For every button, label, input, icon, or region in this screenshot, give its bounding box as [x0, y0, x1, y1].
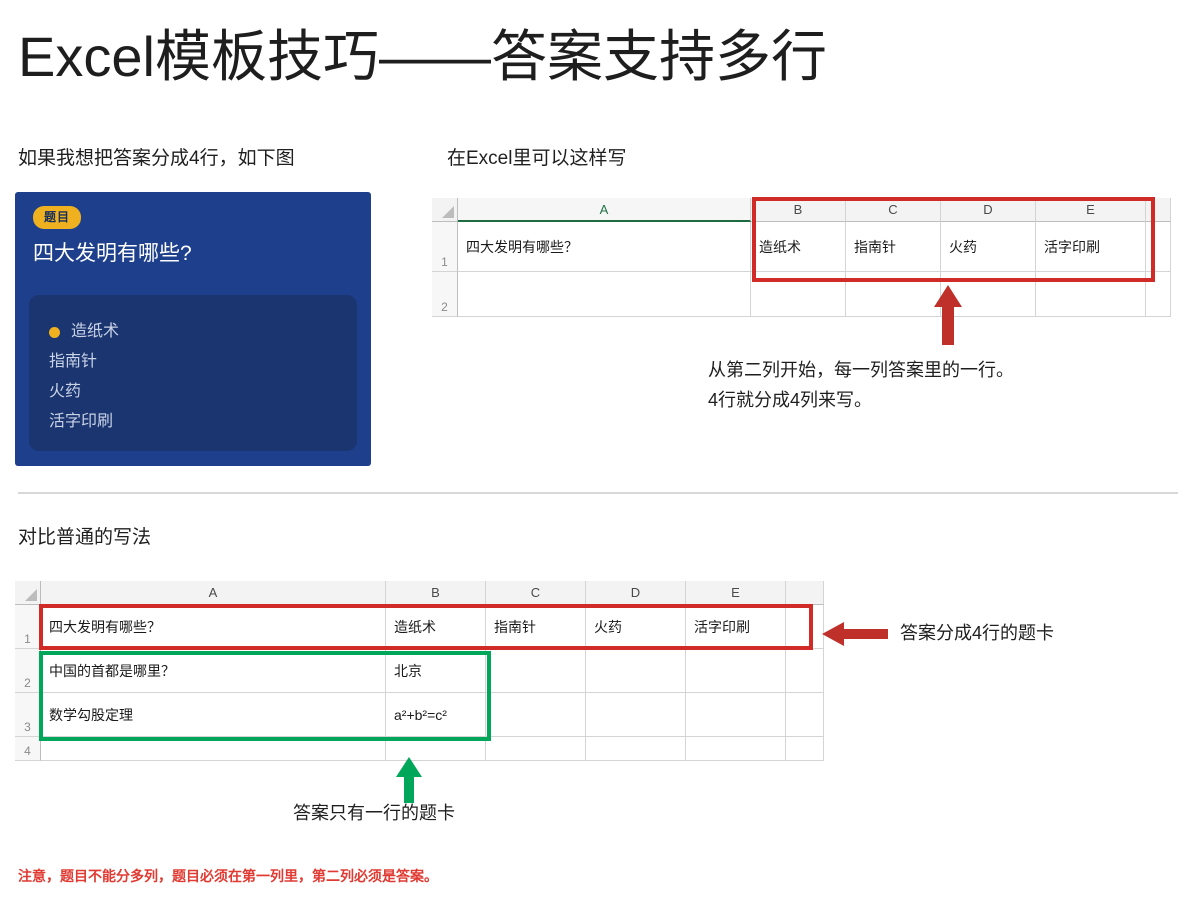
- column-header-c[interactable]: C: [846, 198, 941, 222]
- footer-warning: 注意，题目不能分多列，题目必须在第一列里，第二列必须是答案。: [18, 866, 438, 886]
- bullet-dot-icon: [49, 327, 60, 338]
- cell-c3[interactable]: [486, 693, 586, 737]
- cell-b2[interactable]: 北京: [386, 649, 486, 693]
- cell-d2[interactable]: [586, 649, 686, 693]
- cell-a1[interactable]: 四大发明有哪些？: [458, 222, 751, 272]
- excel-sheet-top[interactable]: A B C D E 1 四大发明有哪些？ 造纸术 指南针 火药 活字印刷 2: [432, 198, 1171, 317]
- column-header-row: A B C D E: [15, 581, 824, 605]
- select-all-corner-icon[interactable]: [15, 581, 41, 605]
- caption-left-column: 如果我想把答案分成4行，如下图: [18, 146, 295, 172]
- cell-a3[interactable]: 数学勾股定理: [41, 693, 386, 737]
- answer-label: 造纸术: [71, 317, 119, 347]
- cell-e3[interactable]: [686, 693, 786, 737]
- cell-d3[interactable]: [586, 693, 686, 737]
- cell-b2[interactable]: [751, 272, 846, 317]
- answer-item: 造纸术: [49, 317, 337, 347]
- cell-e1[interactable]: 活字印刷: [686, 605, 786, 649]
- cell-c4[interactable]: [486, 737, 586, 761]
- answer-label: 指南针: [49, 347, 97, 377]
- cell-e2[interactable]: [686, 649, 786, 693]
- note-singleline-rows: 答案只有一行的题卡: [293, 800, 455, 826]
- row-number-4[interactable]: 4: [15, 737, 41, 761]
- answer-label: 活字印刷: [49, 407, 113, 437]
- table-row: 2 中国的首都是哪里？ 北京: [15, 649, 824, 693]
- row-number-2[interactable]: 2: [15, 649, 41, 693]
- caption-compare: 对比普通的写法: [18, 525, 151, 551]
- cell-a4[interactable]: [41, 737, 386, 761]
- excel-sheet-bottom[interactable]: A B C D E 1 四大发明有哪些？ 造纸术 指南针 火药 活字印刷 2 中…: [15, 581, 824, 761]
- column-header-e[interactable]: E: [686, 581, 786, 605]
- cell-f1[interactable]: [1146, 222, 1171, 272]
- cell-f3[interactable]: [786, 693, 824, 737]
- red-left-arrow-icon: [822, 620, 888, 648]
- cell-b1[interactable]: 造纸术: [386, 605, 486, 649]
- cell-c2[interactable]: [846, 272, 941, 317]
- cell-c1[interactable]: 指南针: [846, 222, 941, 272]
- cell-e4[interactable]: [686, 737, 786, 761]
- cell-d4[interactable]: [586, 737, 686, 761]
- cell-a2[interactable]: [458, 272, 751, 317]
- column-header-b[interactable]: B: [751, 198, 846, 222]
- cell-d1[interactable]: 火药: [941, 222, 1036, 272]
- column-header-f[interactable]: [786, 581, 824, 605]
- column-header-a[interactable]: A: [41, 581, 386, 605]
- column-header-a[interactable]: A: [458, 198, 751, 222]
- cell-f4[interactable]: [786, 737, 824, 761]
- column-header-d[interactable]: D: [941, 198, 1036, 222]
- caption-right-column: 在Excel里可以这样写: [447, 146, 626, 172]
- cell-e1[interactable]: 活字印刷: [1036, 222, 1146, 272]
- answer-item: 火药: [49, 377, 337, 407]
- cell-b3[interactable]: a²+b²=c²: [386, 693, 486, 737]
- cell-a2[interactable]: 中国的首都是哪里？: [41, 649, 386, 693]
- column-header-d[interactable]: D: [586, 581, 686, 605]
- cell-b1[interactable]: 造纸术: [751, 222, 846, 272]
- page-title: Excel模板技巧——答案支持多行: [18, 22, 827, 92]
- cell-f1[interactable]: [786, 605, 824, 649]
- row-number-2[interactable]: 2: [432, 272, 458, 317]
- question-text: 四大发明有哪些?: [33, 239, 353, 269]
- answer-panel: 造纸术 指南针 火药 活字印刷: [29, 295, 357, 451]
- answer-item: 指南针: [49, 347, 337, 377]
- green-up-arrow-icon: [394, 757, 424, 803]
- answer-label: 火药: [49, 377, 81, 407]
- cell-c2[interactable]: [486, 649, 586, 693]
- table-row: 1 四大发明有哪些？ 造纸术 指南针 火药 活字印刷: [432, 222, 1171, 272]
- select-all-corner-icon[interactable]: [432, 198, 458, 222]
- row-number-3[interactable]: 3: [15, 693, 41, 737]
- row-number-1[interactable]: 1: [15, 605, 41, 649]
- cell-c1[interactable]: 指南针: [486, 605, 586, 649]
- note-answer-columns: 从第二列开始，每一列答案里的一行。 4行就分成4列来写。: [708, 355, 1188, 415]
- table-row: 1 四大发明有哪些？ 造纸术 指南针 火药 活字印刷: [15, 605, 824, 649]
- column-header-e[interactable]: E: [1036, 198, 1146, 222]
- question-card: 题目 四大发明有哪些? 造纸术 指南针 火药 活字印刷: [15, 192, 371, 466]
- column-header-b[interactable]: B: [386, 581, 486, 605]
- answer-item: 活字印刷: [49, 407, 337, 437]
- cell-f2[interactable]: [1146, 272, 1171, 317]
- cell-f2[interactable]: [786, 649, 824, 693]
- row-number-1[interactable]: 1: [432, 222, 458, 272]
- cell-e2[interactable]: [1036, 272, 1146, 317]
- red-up-arrow-icon: [930, 285, 966, 345]
- cell-d1[interactable]: 火药: [586, 605, 686, 649]
- question-badge: 题目: [33, 206, 81, 229]
- note-multiline-row: 答案分成4行的题卡: [900, 620, 1054, 646]
- column-header-f[interactable]: [1146, 198, 1171, 222]
- table-row: 2: [432, 272, 1171, 317]
- section-divider: [18, 492, 1178, 494]
- table-row: 3 数学勾股定理 a²+b²=c²: [15, 693, 824, 737]
- cell-a1[interactable]: 四大发明有哪些？: [41, 605, 386, 649]
- column-header-row: A B C D E: [432, 198, 1171, 222]
- column-header-c[interactable]: C: [486, 581, 586, 605]
